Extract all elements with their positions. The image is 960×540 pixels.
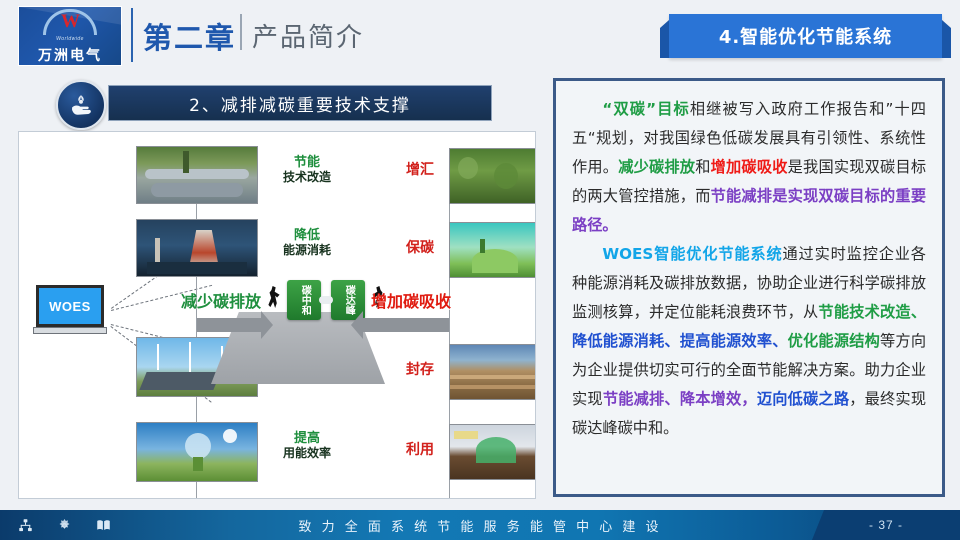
section-title-bar: 2、减排减碳重要技术支撑: [108, 85, 492, 121]
carbon-flow-diagram: 节能 技术改造 降低 能源消耗 优化 能源结构: [18, 131, 536, 499]
description-panel: “双碳”目标相继被写入政府工作报告和”十四五“规划，对我国绿色低碳发展具有引领性…: [553, 78, 945, 497]
node-label-reduce-consumption: 降低 能源消耗: [262, 229, 352, 258]
chip-carbon-neutral: 碳中和: [287, 280, 321, 320]
runner-left-icon: [267, 286, 281, 308]
logo-company-name: 万洲电气: [38, 45, 102, 65]
arrow-head-right: [351, 311, 363, 339]
laptop-base: [33, 327, 107, 334]
logo-letter: W: [43, 11, 97, 33]
logo-latin-text: Worldwide: [56, 36, 84, 42]
node-image-increase-sink: [449, 148, 536, 204]
node-label-carbon-utilization: 利用: [397, 442, 443, 458]
hand-leaf-glyph: [68, 92, 94, 118]
node-label-increase-sink: 增汇: [397, 162, 443, 178]
page-title: 产品简介: [252, 17, 364, 54]
company-logo: W Worldwide 万洲电气: [18, 6, 122, 66]
title-separator: [240, 14, 242, 50]
node-label-energy-efficiency: 提高 用能效率: [262, 432, 352, 461]
woes-source-node[interactable]: WOES: [33, 285, 107, 341]
node-image-carbon-utilization: [449, 424, 536, 480]
logo-mark-icon: W: [43, 9, 97, 35]
node-image-carbon-storage: [449, 344, 536, 400]
node-label-energy-retrofit: 节能 技术改造: [262, 156, 352, 185]
page-number: - 37 -: [812, 510, 960, 540]
arrow-increase-absorption: [363, 318, 449, 332]
woes-screen-label: WOES: [36, 285, 104, 327]
slide-root: W Worldwide 万洲电气 第二章 产品简介 4.智能优化节能系统 2、减…: [0, 0, 960, 540]
node-label-carbon-storage: 封存: [397, 362, 443, 378]
node-label-preserve-carbon: 保碳: [397, 240, 443, 256]
paragraph-1: “双碳”目标相继被写入政府工作报告和”十四五“规划，对我国绿色低碳发展具有引领性…: [572, 95, 926, 240]
hand-leaf-icon: [56, 80, 106, 130]
node-image-preserve-carbon: [449, 222, 536, 278]
arrow-label-reduce-emission: 减少碳排放: [181, 288, 261, 312]
arrow-label-increase-absorption: 增加碳吸收: [371, 288, 451, 312]
header-divider: [131, 8, 133, 62]
section-title-label: 2、减排减碳重要技术支撑: [189, 91, 411, 116]
chapter-title: 第二章: [143, 15, 236, 57]
arrow-head-left: [261, 311, 273, 339]
arrow-reduce-emission: [197, 318, 263, 332]
footer-bar: 致 力 全 面 系 统 节 能 服 务 能 管 中 心 建 设 - 37 -: [0, 510, 960, 540]
node-image-energy-retrofit: [136, 146, 258, 204]
node-image-reduce-consumption: [136, 219, 258, 277]
section-ribbon-label: 4.智能优化节能系统: [719, 23, 892, 49]
chip-link: [319, 296, 333, 304]
node-image-energy-efficiency: [136, 422, 258, 482]
section-ribbon-badge: 4.智能优化节能系统: [669, 14, 942, 58]
paragraph-2: WOES智能优化节能系统通过实时监控企业各种能源消耗及碳排放数据，协助企业进行科…: [572, 240, 926, 443]
